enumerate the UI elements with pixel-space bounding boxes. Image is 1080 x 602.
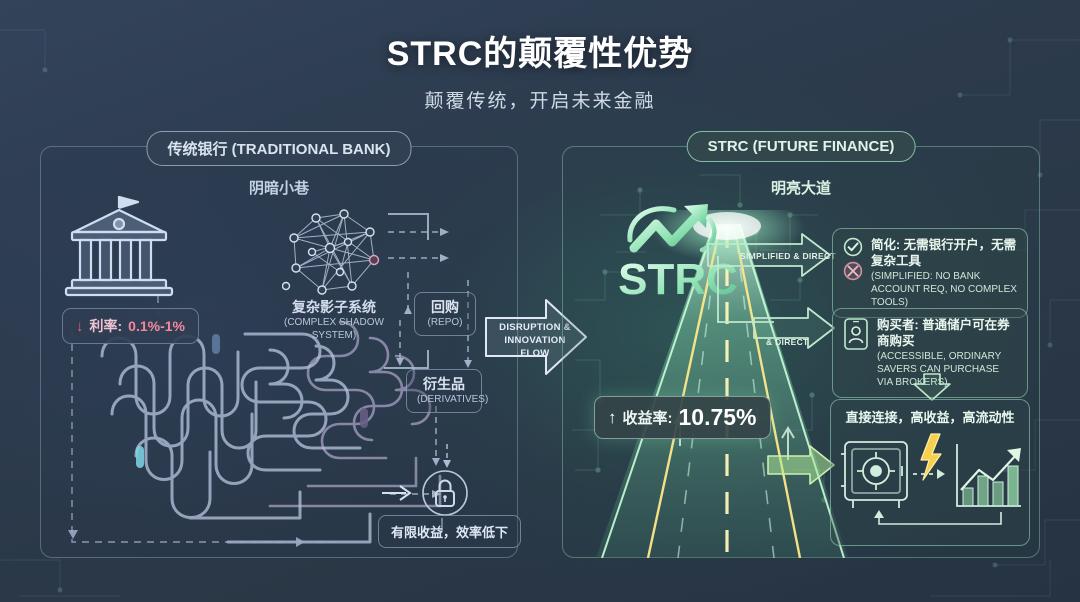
yield-rate-value: 10.75% [679, 404, 757, 431]
shadow-network-graph-icon [282, 202, 386, 298]
page-subtitle: 颠覆传统，开启未来金融 [0, 86, 1080, 113]
no-entry-icon [843, 261, 863, 281]
interest-rate-value: 0.1%-1% [128, 318, 185, 334]
result-icon-group [831, 428, 1029, 532]
card-accessible-title: 购买者: 普通储户可在券商购买 [877, 317, 1017, 350]
result-box: 直接连接，高收益，高流动性 [830, 399, 1030, 546]
card-simplified-desc: (SIMPLIFIED: NO BANK ACCOUNT REQ, NO COM… [871, 270, 1017, 309]
yield-rate-label: 收益率: [623, 407, 673, 428]
strc-future-subtitle: 明亮大道 [563, 177, 1039, 198]
down-arrow-icon: ↓ [76, 318, 84, 335]
infographic-stage: STRC的颠覆性优势 颠覆传统，开启未来金融 传统银行 (TRADITIONAL… [0, 0, 1080, 602]
node-derivatives: 衍生品 (DERIVATIVES) [406, 369, 482, 413]
yield-rate-badge: ↑ 收益率: 10.75% [594, 396, 771, 439]
up-arrow-icon: ↑ [608, 408, 617, 428]
check-circle-icon [843, 237, 863, 257]
arrow-label-simplified-direct: SIMPLIFIED & DIRECT [740, 251, 836, 261]
growth-arrow-icon [630, 204, 714, 250]
traditional-outcome-box: 有限收益，效率低下 [378, 515, 521, 548]
lock-input-arrow [440, 444, 454, 470]
arrow-label-direct: & DIRECT [766, 337, 809, 347]
safe-vault-icon [841, 442, 907, 508]
result-title: 直接连接，高收益，高流动性 [831, 400, 1029, 428]
interest-rate-label: 利率: [90, 316, 123, 336]
highway-to-result-arrow [766, 444, 836, 486]
strc-future-chip: STRC (FUTURE FINANCE) [687, 131, 916, 162]
mobile-user-icon [843, 317, 869, 351]
card-simplified-title: 简化: 无需银行开户，无需复杂工具 [871, 237, 1017, 270]
complex-shadow-system-label: 复杂影子系统 (COMPLEX SHADOW SYSTEM) [276, 298, 392, 342]
lock-approach-arrow [380, 478, 420, 508]
page-title: STRC的颠覆性优势 [0, 26, 1080, 75]
down-flow-arrow [912, 372, 952, 402]
card-simplified: 简化: 无需银行开户，无需复杂工具 (SIMPLIFIED: NO BANK A… [832, 228, 1028, 318]
bar-chart-growth-icon [957, 444, 1021, 506]
node-repo: 回购 (REPO) [414, 292, 476, 336]
interest-rate-badge: ↓ 利率: 0.1%-1% [62, 308, 199, 344]
lock-icon [418, 466, 472, 520]
bank-building-icon [64, 192, 174, 298]
reinvest-loop [874, 510, 1001, 524]
